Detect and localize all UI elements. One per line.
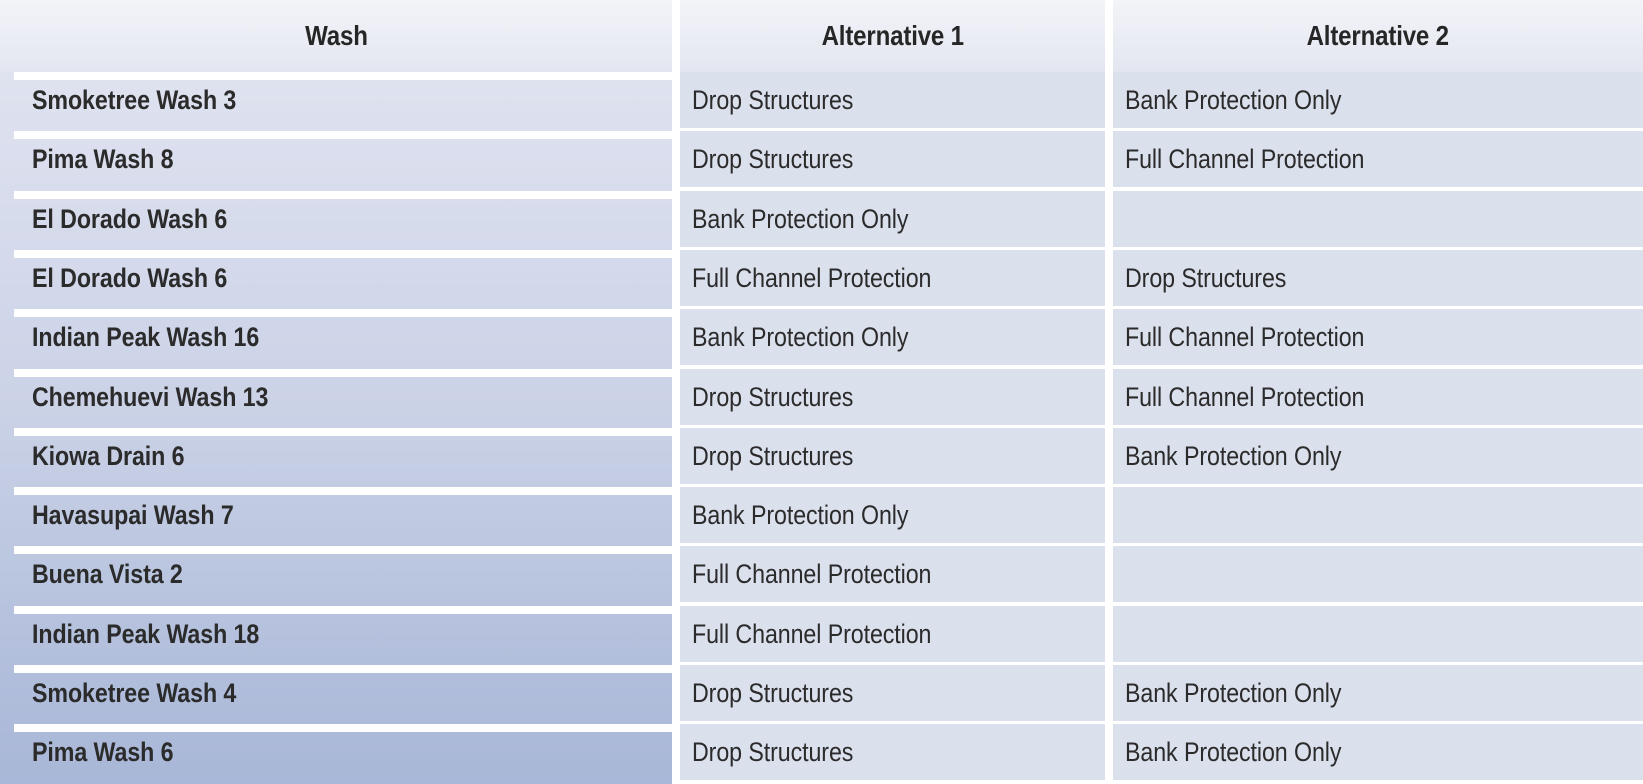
cell-alternative-2-label: Full Channel Protection [1125,322,1364,353]
cell-wash[interactable]: Kiowa Drain 6 [0,428,672,484]
cell-alternative-2[interactable]: Drop Structures [1113,250,1643,306]
cell-alternative-1-label: Bank Protection Only [692,322,908,353]
table-row[interactable]: Indian Peak Wash 18Full Channel Protecti… [0,606,1643,662]
table-row[interactable]: Kiowa Drain 6Drop StructuresBank Protect… [0,428,1643,484]
cell-alternative-2-label: Drop Structures [1125,263,1286,294]
cell-alternative-1[interactable]: Drop Structures [680,724,1105,780]
table-row[interactable]: Chemehuevi Wash 13Drop StructuresFull Ch… [0,369,1643,425]
cell-wash-label: Chemehuevi Wash 13 [32,382,268,413]
column-header-wash[interactable]: Wash [0,0,672,72]
cell-alternative-1[interactable]: Bank Protection Only [680,487,1105,543]
column-header-wash-label: Wash [305,20,368,52]
cell-alternative-1[interactable]: Drop Structures [680,665,1105,721]
table-row[interactable]: Smoketree Wash 3Drop StructuresBank Prot… [0,72,1643,128]
cell-alternative-2[interactable] [1113,487,1643,543]
cell-alternative-1[interactable]: Bank Protection Only [680,191,1105,247]
cell-alternative-1-label: Bank Protection Only [692,204,908,235]
cell-wash-label: Indian Peak Wash 16 [32,322,259,353]
cell-wash[interactable]: Smoketree Wash 3 [0,72,672,128]
cell-wash-label: Smoketree Wash 3 [32,85,236,116]
cell-alternative-2[interactable]: Bank Protection Only [1113,72,1643,128]
table-row[interactable]: Havasupai Wash 7Bank Protection Only [0,487,1643,543]
cell-wash-label: Indian Peak Wash 18 [32,619,259,650]
cell-wash[interactable]: Pima Wash 6 [0,724,672,780]
cell-alternative-2[interactable] [1113,191,1643,247]
cell-alternative-1-label: Drop Structures [692,85,853,116]
cell-alternative-1[interactable]: Full Channel Protection [680,606,1105,662]
table-row[interactable]: Pima Wash 8Drop StructuresFull Channel P… [0,131,1643,187]
cell-wash-label: Buena Vista 2 [32,559,183,590]
column-header-alternative-2[interactable]: Alternative 2 [1113,0,1643,72]
cell-alternative-1[interactable]: Full Channel Protection [680,250,1105,306]
cell-alternative-2-label: Full Channel Protection [1125,144,1364,175]
cell-wash[interactable]: Smoketree Wash 4 [0,665,672,721]
cell-alternative-2[interactable] [1113,546,1643,602]
cell-wash[interactable]: Havasupai Wash 7 [0,487,672,543]
cell-alternative-2[interactable]: Bank Protection Only [1113,724,1643,780]
cell-alternative-2[interactable]: Full Channel Protection [1113,131,1643,187]
cell-alternative-1-label: Bank Protection Only [692,500,908,531]
cell-alternative-1[interactable]: Drop Structures [680,369,1105,425]
cell-alternative-1[interactable]: Bank Protection Only [680,309,1105,365]
cell-alternative-1-label: Full Channel Protection [692,263,931,294]
cell-alternative-1-label: Drop Structures [692,737,853,768]
cell-wash-label: Havasupai Wash 7 [32,500,234,531]
cell-alternative-2-label: Bank Protection Only [1125,85,1341,116]
table-header-row: Wash Alternative 1 Alternative 2 [0,0,1643,72]
cell-alternative-2-label: Bank Protection Only [1125,678,1341,709]
cell-wash-label: Pima Wash 6 [32,737,173,768]
cell-alternative-2-label: Bank Protection Only [1125,737,1341,768]
table-row[interactable]: Smoketree Wash 4Drop StructuresBank Prot… [0,665,1643,721]
cell-alternative-1-label: Drop Structures [692,382,853,413]
cell-alternative-1-label: Full Channel Protection [692,619,931,650]
cell-wash[interactable]: Indian Peak Wash 18 [0,606,672,662]
cell-wash[interactable]: Pima Wash 8 [0,131,672,187]
cell-alternative-2-label: Full Channel Protection [1125,382,1364,413]
cell-wash-label: Kiowa Drain 6 [32,441,184,472]
cell-wash-label: Smoketree Wash 4 [32,678,236,709]
cell-alternative-2-label: Bank Protection Only [1125,441,1341,472]
cell-wash[interactable]: El Dorado Wash 6 [0,191,672,247]
cell-alternative-2[interactable] [1113,606,1643,662]
table-row[interactable]: Indian Peak Wash 16Bank Protection OnlyF… [0,309,1643,365]
cell-alternative-1[interactable]: Drop Structures [680,131,1105,187]
cell-alternative-2[interactable]: Full Channel Protection [1113,369,1643,425]
cell-wash-label: El Dorado Wash 6 [32,263,227,294]
cell-alternative-2[interactable]: Bank Protection Only [1113,665,1643,721]
table-body: Smoketree Wash 3Drop StructuresBank Prot… [0,72,1643,784]
table-row[interactable]: Pima Wash 6Drop StructuresBank Protectio… [0,724,1643,780]
cell-alternative-1[interactable]: Full Channel Protection [680,546,1105,602]
cell-wash[interactable]: El Dorado Wash 6 [0,250,672,306]
table-row[interactable]: El Dorado Wash 6Bank Protection Only [0,191,1643,247]
cell-wash-label: Pima Wash 8 [32,144,173,175]
column-header-alternative-2-label: Alternative 2 [1307,20,1449,52]
cell-alternative-1[interactable]: Drop Structures [680,72,1105,128]
cell-alternative-2[interactable]: Full Channel Protection [1113,309,1643,365]
cell-wash[interactable]: Indian Peak Wash 16 [0,309,672,365]
cell-alternative-2[interactable]: Bank Protection Only [1113,428,1643,484]
cell-alternative-1-label: Full Channel Protection [692,559,931,590]
cell-alternative-1-label: Drop Structures [692,441,853,472]
table-row[interactable]: El Dorado Wash 6Full Channel ProtectionD… [0,250,1643,306]
cell-wash[interactable]: Chemehuevi Wash 13 [0,369,672,425]
cell-alternative-1-label: Drop Structures [692,144,853,175]
cell-wash-label: El Dorado Wash 6 [32,204,227,235]
column-header-alternative-1-label: Alternative 1 [821,20,963,52]
cell-alternative-1[interactable]: Drop Structures [680,428,1105,484]
comparison-table: Wash Alternative 1 Alternative 2 Smoketr… [0,0,1643,784]
cell-alternative-1-label: Drop Structures [692,678,853,709]
column-header-alternative-1[interactable]: Alternative 1 [680,0,1105,72]
table-row[interactable]: Buena Vista 2Full Channel Protection [0,546,1643,602]
cell-wash[interactable]: Buena Vista 2 [0,546,672,602]
